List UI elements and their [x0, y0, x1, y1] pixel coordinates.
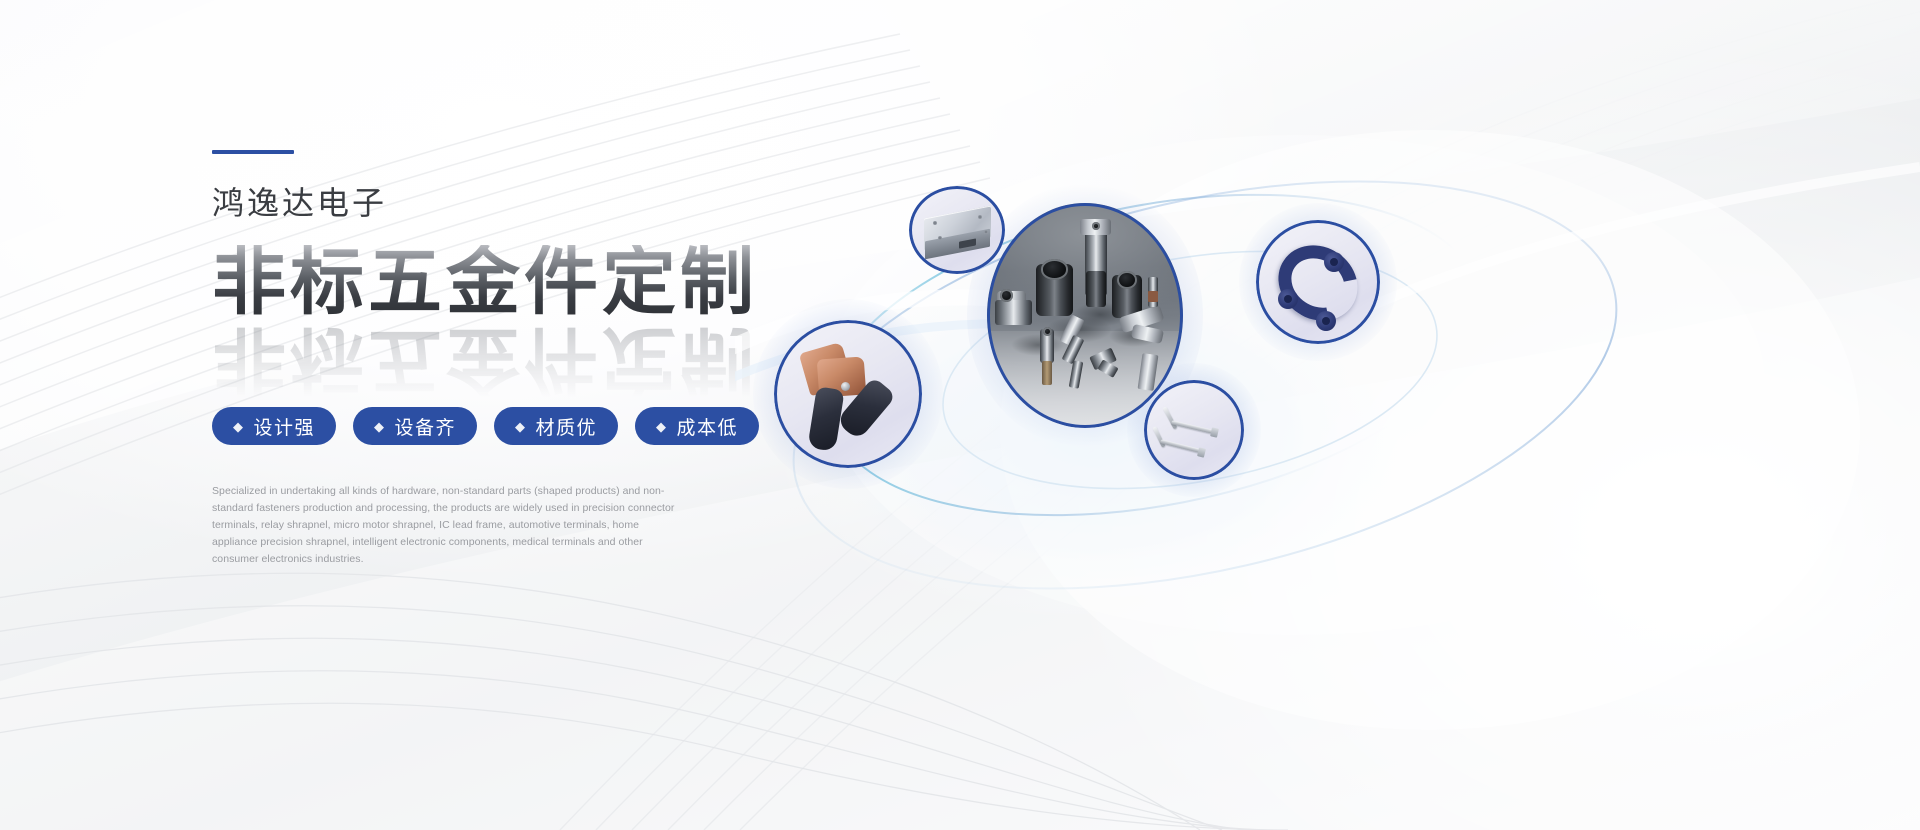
product-node-snap-ring[interactable]	[1256, 220, 1380, 344]
feature-pill-label: 成本低	[677, 413, 739, 440]
product-node-copper-clamp[interactable]	[774, 320, 922, 468]
product-node-precision-parts[interactable]	[987, 203, 1183, 428]
connector-flange	[995, 300, 1032, 325]
lever-collar	[1148, 291, 1158, 302]
description-paragraph: Specialized in undertaking all kinds of …	[212, 483, 682, 568]
feature-pill-design[interactable]: ◆ 设计强	[212, 407, 336, 445]
cylinder-bore	[1092, 222, 1100, 230]
diamond-icon: ◆	[374, 420, 386, 433]
feature-pill-label: 设备齐	[395, 413, 457, 440]
part-shadow	[1011, 334, 1066, 357]
diamond-icon: ◆	[233, 420, 245, 433]
diamond-icon: ◆	[515, 420, 527, 433]
machined-parts-scene	[987, 203, 1183, 428]
socket-bore	[1117, 271, 1137, 289]
page-title: 非标五金件定制	[212, 245, 758, 319]
feature-pill-label: 材质优	[536, 413, 598, 440]
headline-reflection: 非标五金件定制	[212, 323, 758, 397]
product-showcase	[735, 55, 1920, 775]
small-pin-bore	[1043, 327, 1052, 336]
enclosure-screw	[938, 236, 942, 240]
clamp-pivot	[841, 382, 850, 391]
diamond-icon: ◆	[656, 420, 668, 433]
feature-pill-material[interactable]: ◆ 材质优	[494, 407, 618, 445]
accent-bar	[212, 150, 294, 154]
cylinder-shank	[1086, 271, 1106, 307]
hero-banner: 鸿逸达电子 非标五金件定制 非标五金件定制 ◆ 设计强 ◆ 设备齐 ◆ 材质优 …	[0, 0, 1920, 830]
feature-pill-label: 设计强	[254, 413, 316, 440]
snap-ring-lug	[1316, 311, 1336, 331]
feature-pill-equipment[interactable]: ◆ 设备齐	[353, 407, 477, 445]
sleeve-bore	[1041, 259, 1068, 279]
pin-tail	[1042, 361, 1052, 386]
